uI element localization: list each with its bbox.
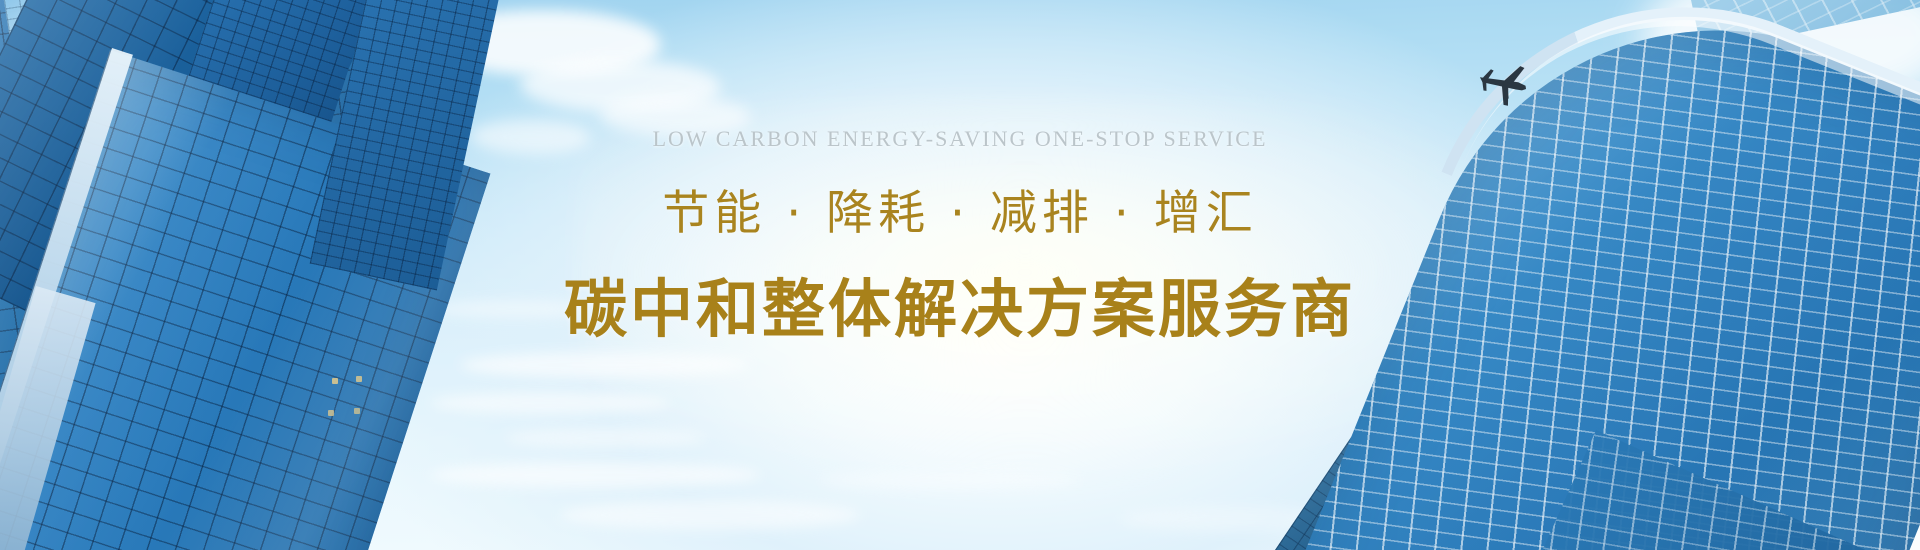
window-light [332, 378, 338, 384]
hero-banner: LOW CARBON ENERGY-SAVING ONE-STOP SERVIC… [0, 0, 1920, 550]
window-light [328, 410, 334, 416]
window-light [354, 408, 360, 414]
cloud [430, 462, 760, 488]
cloud [560, 500, 860, 530]
cloud [820, 470, 1080, 490]
window-light [356, 376, 362, 382]
cloud [430, 300, 600, 318]
cloud [430, 392, 670, 414]
airplane-icon [1473, 58, 1535, 110]
cloud [505, 428, 705, 448]
cloud [460, 352, 750, 378]
